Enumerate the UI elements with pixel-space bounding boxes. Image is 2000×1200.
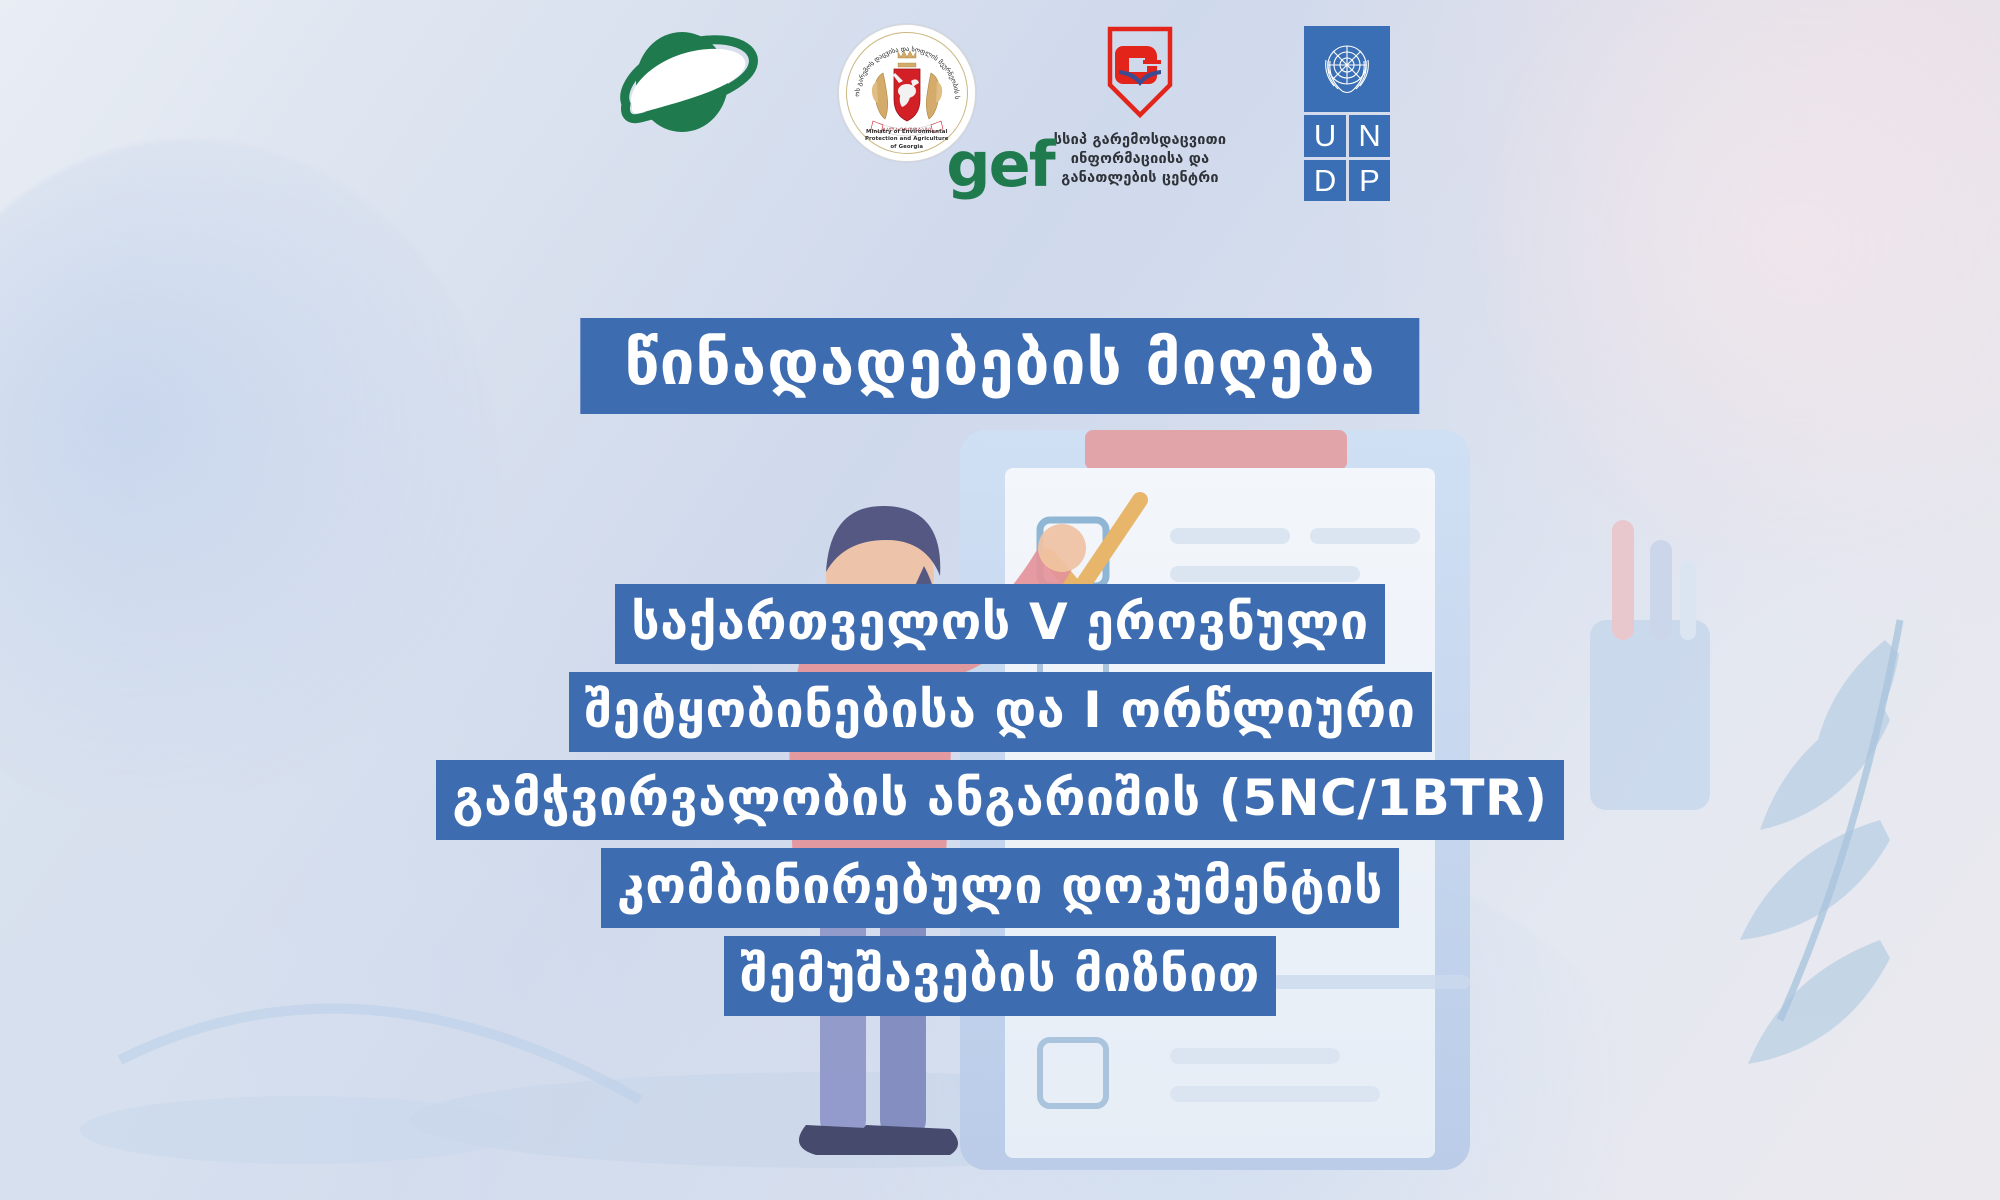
ministry-caption-en: Ministry of Environmental Protection and… xyxy=(839,129,975,151)
logo-undp: U N D P xyxy=(1304,26,1390,201)
undp-letter-p: P xyxy=(1349,160,1391,202)
undp-letter-grid: U N D P xyxy=(1304,115,1390,201)
logo-strip: gef საქართველოს გარემოს დაცვისა და სოფლი… xyxy=(0,0,2000,190)
undp-letter-u: U xyxy=(1304,115,1346,157)
undp-letter-d: D xyxy=(1304,160,1346,202)
logo-ministry: საქართველოს გარემოს დაცვისა და სოფლის მე… xyxy=(838,24,976,162)
subtitle-line-4: კომბინირებული დოკუმენტის xyxy=(601,848,1399,928)
logo-environmental-information-centre: სსიპ გარემოსდაცვითი ინფორმაციისა და განა… xyxy=(1054,26,1227,188)
subtitle-line-1: საქართველოს V ეროვნული xyxy=(615,584,1385,664)
eic-caption: სსიპ გარემოსდაცვითი ინფორმაციისა და განა… xyxy=(1054,131,1227,188)
undp-letter-n: N xyxy=(1349,115,1391,157)
subtitle-line-5: შემუშავების მიზნით xyxy=(724,936,1276,1016)
ministry-seal-icon: საქართველოს გარემოს დაცვისა და სოფლის მე… xyxy=(838,24,976,162)
logo-gef: gef xyxy=(610,22,760,172)
subtitle-line-3: გამჭვირვალობის ანგარიშის (5NC/1BTR) xyxy=(436,760,1563,840)
eic-shield-icon xyxy=(1107,26,1173,118)
subtitle-block: საქართველოს V ეროვნული შეტყობინებისა და … xyxy=(300,580,1700,1020)
un-emblem-icon xyxy=(1304,26,1390,112)
poster-root: gef საქართველოს გარემოს დაცვისა და სოფლი… xyxy=(0,0,2000,1200)
gef-icon xyxy=(610,22,760,172)
page-title: წინადადებების მიღება xyxy=(580,318,1419,414)
subtitle-line-2: შეტყობინებისა და I ორწლიური xyxy=(569,672,1432,752)
